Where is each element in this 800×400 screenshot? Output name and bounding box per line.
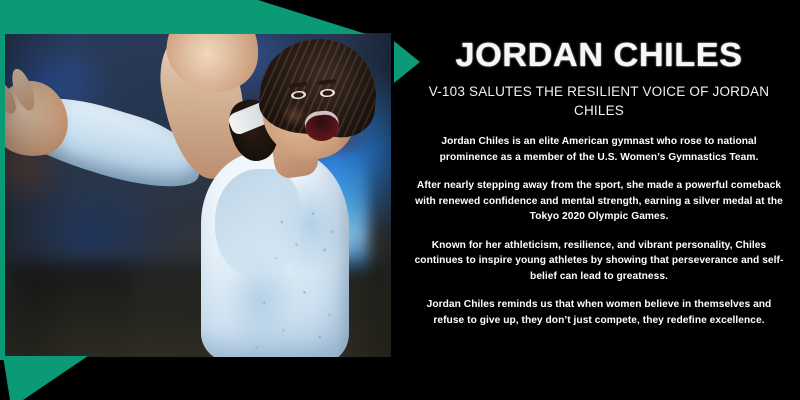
- green-bottom-triangle: [0, 356, 92, 400]
- poster-canvas: JORDAN CHILES V-103 SALUTES THE RESILIEN…: [0, 0, 800, 400]
- green-top-band: [0, 0, 390, 34]
- body-paragraph: After nearly stepping away from the spor…: [414, 178, 784, 225]
- text-panel: JORDAN CHILES V-103 SALUTES THE RESILIEN…: [398, 0, 800, 400]
- photo-vignette: [5, 33, 391, 357]
- green-left-strip: [0, 30, 5, 360]
- body-paragraph: Known for her athleticism, resilience, a…: [414, 238, 784, 285]
- page-title: JORDAN CHILES: [405, 38, 794, 71]
- body-copy: Jordan Chiles is an elite American gymna…: [412, 134, 786, 328]
- athlete-photo: [5, 33, 391, 357]
- page-subtitle: V-103 SALUTES THE RESILIENT VOICE OF JOR…: [412, 82, 786, 120]
- body-paragraph: Jordan Chiles reminds us that when women…: [414, 297, 784, 328]
- body-paragraph: Jordan Chiles is an elite American gymna…: [414, 134, 784, 165]
